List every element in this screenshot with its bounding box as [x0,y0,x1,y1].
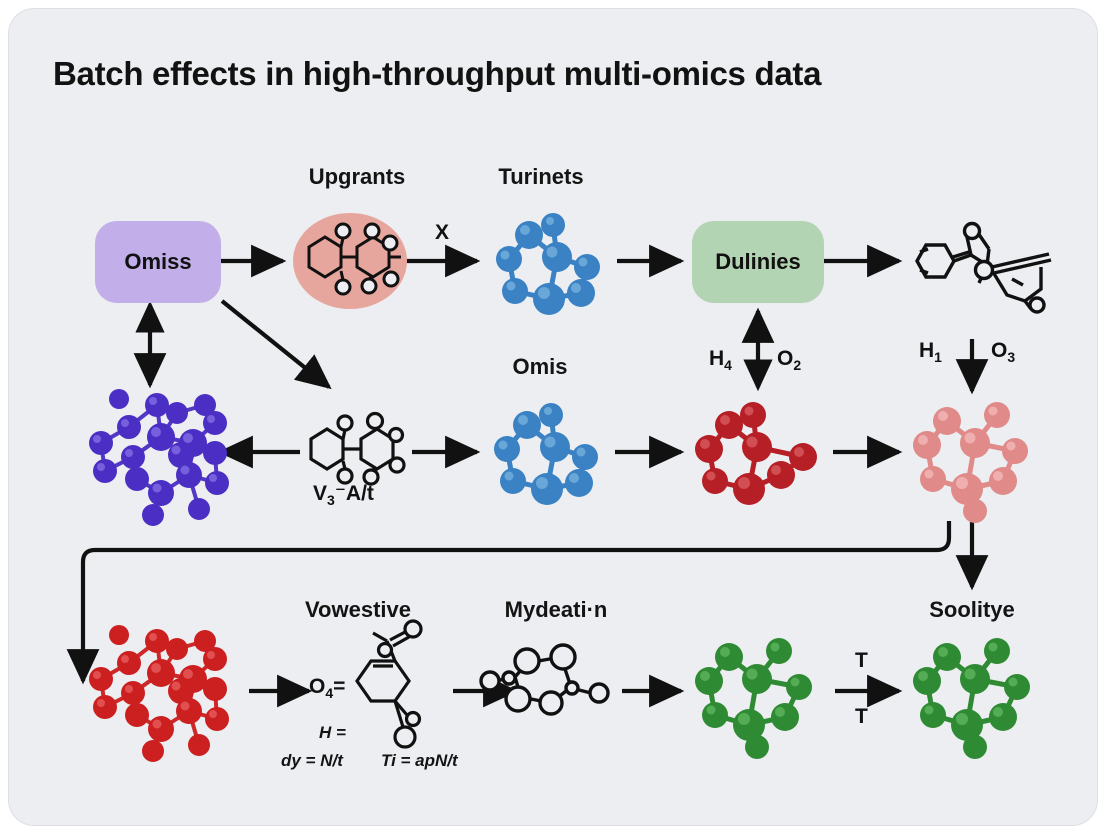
diagram-card: Batch effects in high-throughput multi-o… [8,8,1098,826]
cluster-green-2 [9,9,1097,825]
